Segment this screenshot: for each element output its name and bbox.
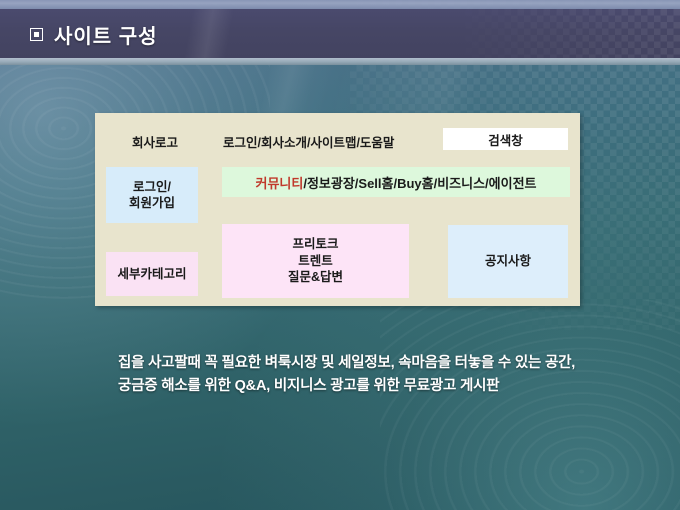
box-login-join-line-2: 회원가입 — [129, 195, 175, 212]
box-sub-category[interactable]: 세부카테고리 — [106, 252, 198, 296]
filled-square-icon — [30, 28, 43, 41]
box-login-join[interactable]: 로그인/ 회원가입 — [106, 167, 198, 223]
slide-title-row: 사이트 구성 — [30, 18, 158, 50]
box-community-line-3: 질문&답변 — [288, 269, 343, 286]
page-title: 사이트 구성 — [54, 20, 158, 49]
company-logo-cell: 회사로고 — [107, 127, 203, 155]
title-top-strip — [0, 0, 680, 9]
main-navigation-bar[interactable]: 커뮤니티/정보광장/Sell홈/Buy홈/비즈니스/에이전트 — [222, 167, 570, 197]
presentation-slide: 사이트 구성 회사로고 로그인/회사소개/사이트맵/도움말 검색창 커뮤니티/정… — [0, 0, 680, 510]
top-utility-links[interactable]: 로그인/회사소개/사이트맵/도움말 — [223, 127, 394, 155]
slide-caption: 집을 사고팔때 꼭 필요한 벼룩시장 및 세일정보, 속마음을 터놓을 수 있는… — [118, 352, 580, 399]
background-ripple-pattern-right — [380, 300, 680, 510]
box-login-join-line-1: 로그인/ — [133, 179, 171, 196]
box-sub-category-line-1: 세부카테고리 — [117, 266, 186, 283]
box-notice-line-1: 공지사항 — [485, 253, 531, 270]
site-structure-panel: 회사로고 로그인/회사소개/사이트맵/도움말 검색창 커뮤니티/정보광장/Sel… — [95, 113, 580, 306]
title-band-mosaic — [420, 9, 680, 58]
nav-item-active[interactable]: 커뮤니티 — [255, 173, 303, 192]
box-community-line-2: 트렌트 — [298, 253, 333, 270]
box-notice[interactable]: 공지사항 — [448, 225, 568, 298]
box-community-center[interactable]: 프리토크 트렌트 질문&답변 — [222, 224, 409, 298]
nav-items-rest[interactable]: /정보광장/Sell홈/Buy홈/비즈니스/에이전트 — [303, 173, 536, 192]
search-input[interactable]: 검색창 — [443, 128, 568, 150]
box-community-line-1: 프리토크 — [292, 236, 338, 253]
title-underline-divider — [0, 58, 680, 65]
